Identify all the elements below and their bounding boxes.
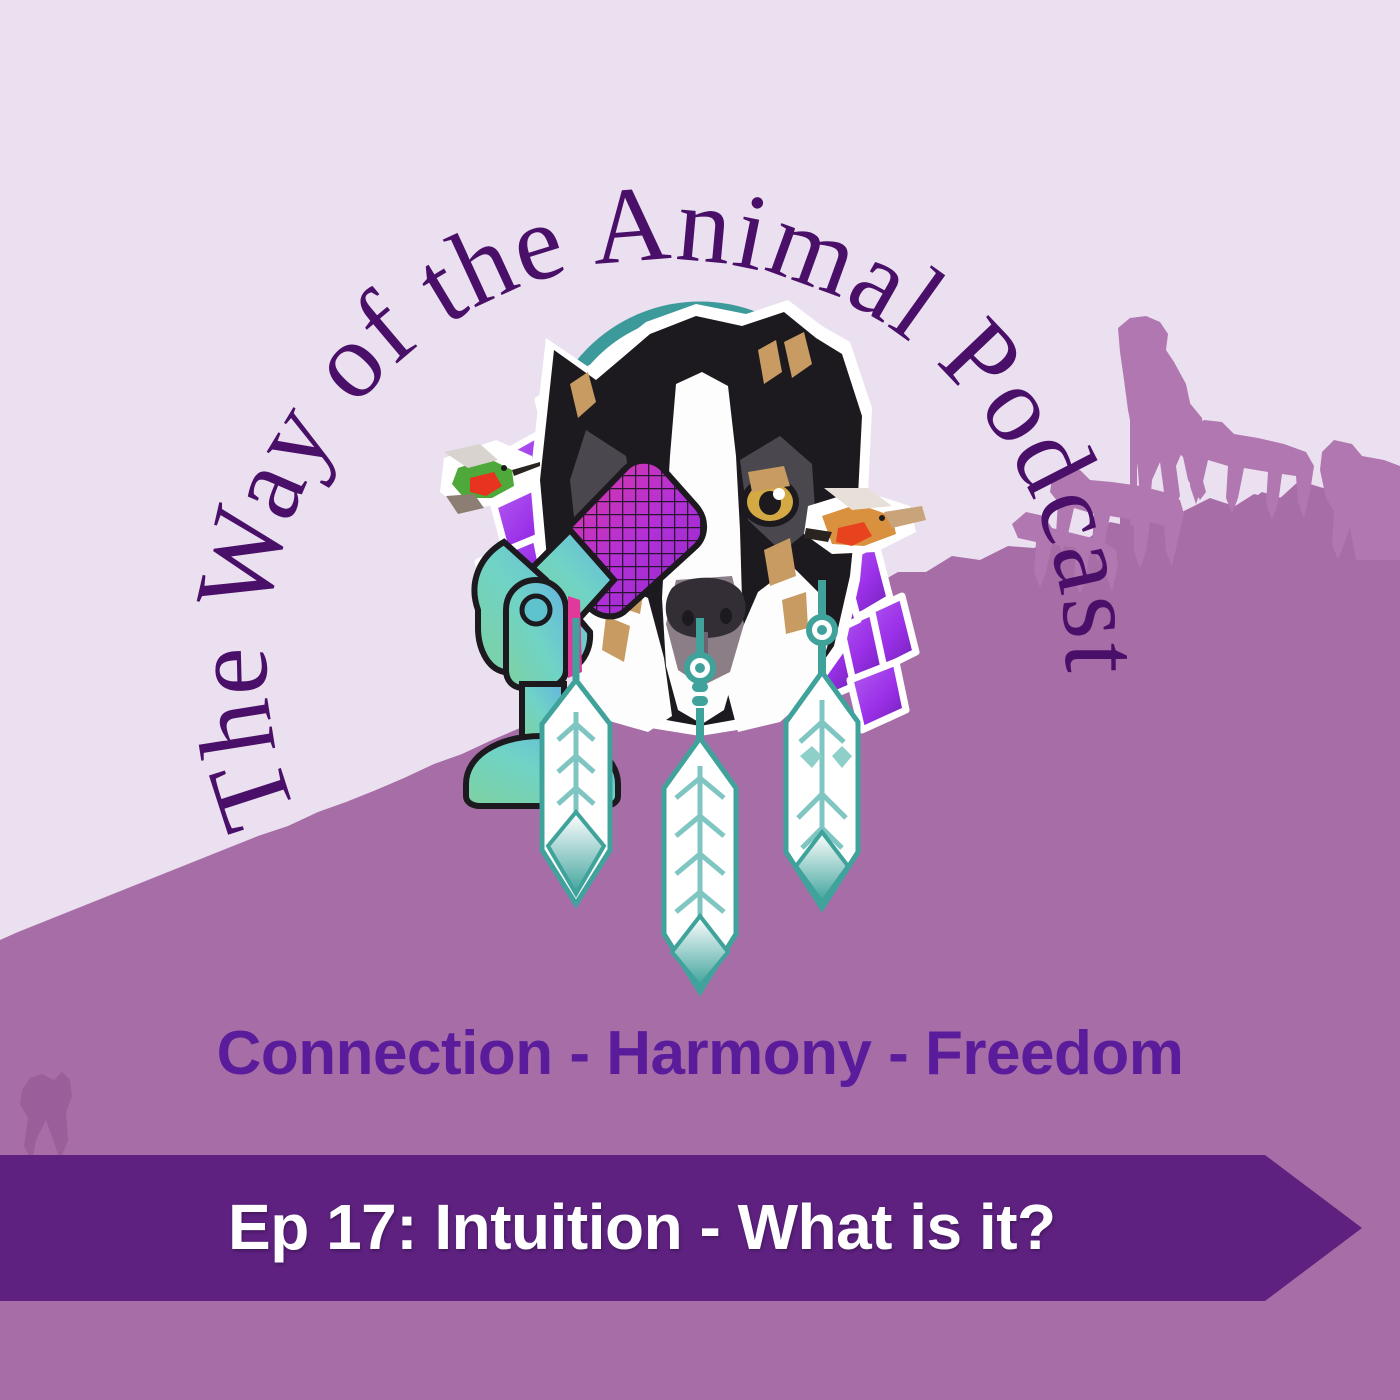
episode-banner: Ep 17: Intuition - What is it? <box>0 1150 1400 1315</box>
dreamcatcher-logo <box>440 280 960 1040</box>
dog-nose <box>666 578 746 638</box>
episode-banner-label: Ep 17: Intuition - What is it? <box>0 1150 1265 1303</box>
tagline: Connection - Harmony - Freedom <box>0 1018 1400 1089</box>
podcast-cover-art: The Way of the Animal Podcast <box>0 0 1400 1400</box>
